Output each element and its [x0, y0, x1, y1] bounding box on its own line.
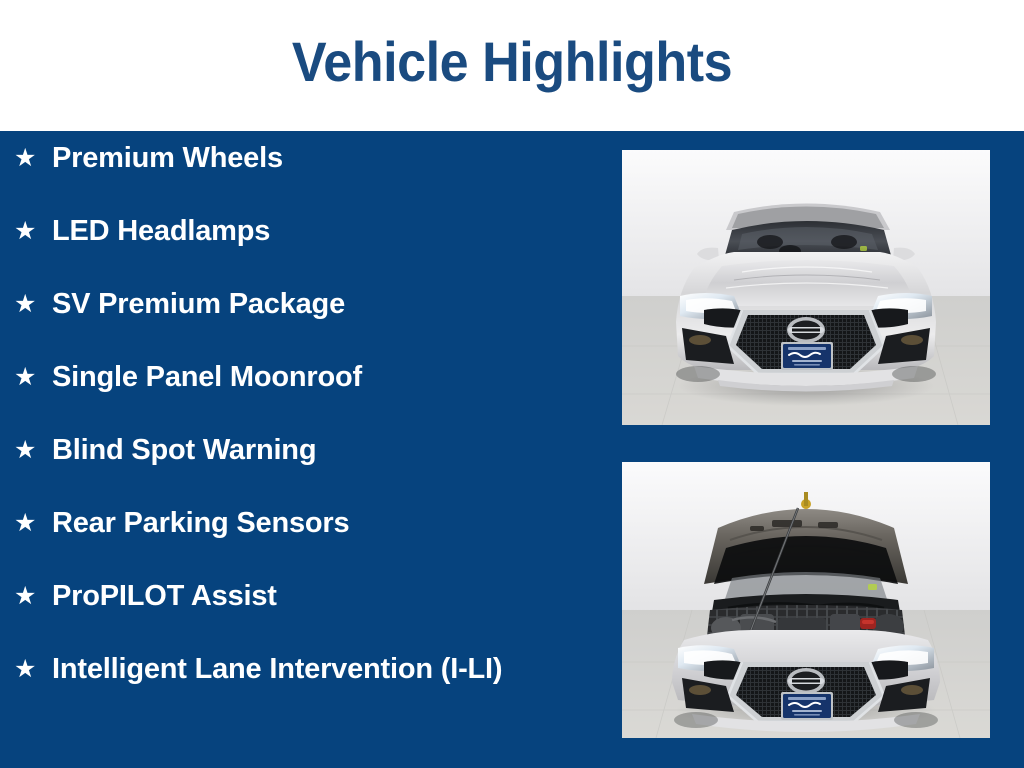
list-item: ★ LED Headlamps [14, 213, 574, 249]
slide-root: Vehicle Highlights ★ Premium Wheels ★ LE… [0, 0, 1024, 768]
star-bullet-icon: ★ [14, 359, 36, 395]
list-item: ★ Single Panel Moonroof [14, 359, 574, 395]
page-title: Vehicle Highlights [36, 30, 988, 94]
star-bullet-icon: ★ [14, 286, 36, 322]
list-item: ★ Rear Parking Sensors [14, 505, 574, 541]
list-item: ★ SV Premium Package [14, 286, 574, 322]
vehicle-engine-bay-photo [622, 462, 990, 738]
star-bullet-icon: ★ [14, 578, 36, 614]
highlight-label: Rear Parking Sensors [52, 505, 574, 541]
list-item: ★ ProPILOT Assist [14, 578, 574, 614]
highlight-label: SV Premium Package [52, 286, 574, 322]
highlight-label: Premium Wheels [52, 140, 574, 176]
star-bullet-icon: ★ [14, 140, 36, 176]
highlight-label: Blind Spot Warning [52, 432, 574, 468]
highlight-label: Intelligent Lane Intervention (I-LI) [52, 651, 534, 687]
list-item: ★ Intelligent Lane Intervention (I-LI) [14, 651, 534, 687]
slide-header: Vehicle Highlights [0, 0, 1024, 131]
list-item: ★ Premium Wheels [14, 140, 574, 176]
highlight-label: ProPILOT Assist [52, 578, 574, 614]
star-bullet-icon: ★ [14, 213, 36, 249]
star-bullet-icon: ★ [14, 432, 36, 468]
star-bullet-icon: ★ [14, 505, 36, 541]
star-bullet-icon: ★ [14, 651, 36, 687]
list-item: ★ Blind Spot Warning [14, 432, 574, 468]
highlight-label: Single Panel Moonroof [52, 359, 574, 395]
highlight-label: LED Headlamps [52, 213, 574, 249]
vehicle-front-view-photo [622, 150, 990, 425]
